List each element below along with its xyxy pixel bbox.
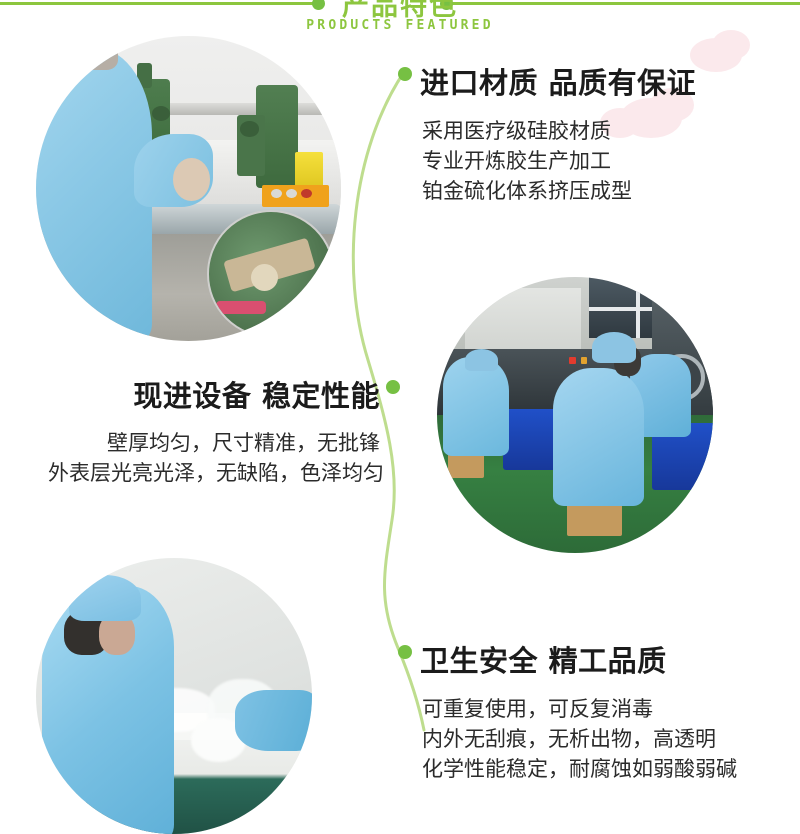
feature-line: 外表层光亮光泽，无缺陷，色泽均匀 — [48, 458, 380, 488]
feature-body-2: 壁厚均匀，尺寸精准，无批锋 外表层光亮光泽，无缺陷，色泽均匀 — [48, 428, 380, 488]
feature-heading-2: 现进设备 稳定性能 — [48, 373, 380, 415]
photo-packaging-worker — [36, 558, 312, 834]
feature-heading-3: 卫生安全 精工品质 — [420, 638, 737, 680]
feature-line: 内外无刮痕，无析出物，高透明 — [422, 724, 737, 754]
feature-body-1: 采用医疗级硅胶材质 专业开炼胶生产加工 铂金硫化体系挤压成型 — [422, 116, 696, 206]
photo-rubber-mixing-mill — [36, 36, 341, 341]
feature-block-imported-material: 进口材质 品质有保证 采用医疗级硅胶材质 专业开炼胶生产加工 铂金硫化体系挤压成… — [420, 60, 696, 206]
feature-bullet-dot-icon-2 — [386, 380, 400, 394]
feature-line: 采用医疗级硅胶材质 — [422, 116, 696, 146]
feature-heading-1: 进口材质 品质有保证 — [420, 60, 696, 102]
feature-line: 铂金硫化体系挤压成型 — [422, 176, 696, 206]
header-title-en: PRODUCTS FEATURED — [0, 18, 800, 33]
feature-line: 可重复使用，可反复消毒 — [422, 694, 737, 724]
feature-bullet-dot-icon-3 — [398, 645, 412, 659]
feature-block-advanced-equipment: 现进设备 稳定性能 壁厚均匀，尺寸精准，无批锋 外表层光亮光泽，无缺陷，色泽均匀 — [48, 373, 380, 488]
feature-line: 化学性能稳定，耐腐蚀如弱酸弱碱 — [422, 754, 737, 784]
feature-bullet-dot-icon-1 — [398, 67, 412, 81]
feature-block-hygienic-safety: 卫生安全 精工品质 可重复使用，可反复消毒 内外无刮痕，无析出物，高透明 化学性… — [420, 638, 737, 784]
feature-line: 壁厚均匀，尺寸精准，无批锋 — [48, 428, 380, 458]
feature-line: 专业开炼胶生产加工 — [422, 146, 696, 176]
feature-body-3: 可重复使用，可反复消毒 内外无刮痕，无析出物，高透明 化学性能稳定，耐腐蚀如弱酸… — [422, 694, 737, 784]
section-header: 产品特色 PRODUCTS FEATURED — [0, 0, 800, 46]
photo-workshop-workers — [437, 277, 713, 553]
